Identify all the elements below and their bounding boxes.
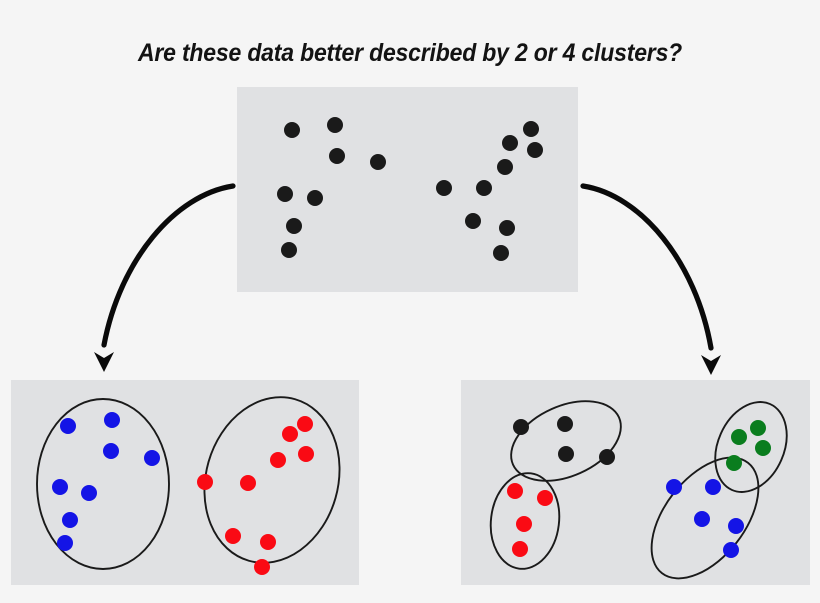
arrow-to-four-clusters: [583, 186, 711, 348]
arrow-to-four-clusters-head: [701, 355, 721, 375]
panel-two-cluster-solution: [11, 380, 359, 585]
arrow-to-two-clusters: [104, 186, 233, 345]
figure-canvas: Are these data better described by 2 or …: [0, 0, 820, 603]
panel-unlabeled-data: [237, 87, 578, 292]
arrow-to-two-clusters-head: [94, 352, 114, 372]
panel-four-cluster-solution: [461, 380, 810, 585]
figure-title: Are these data better described by 2 or …: [33, 39, 787, 68]
